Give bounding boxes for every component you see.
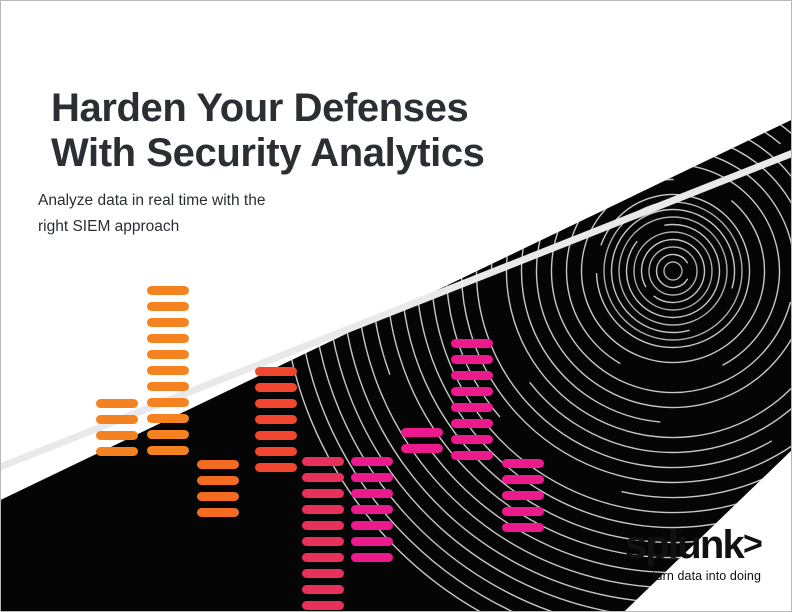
bar-segment bbox=[401, 428, 443, 437]
splunk-wordmark: splunk> bbox=[625, 525, 761, 567]
bar-segment bbox=[451, 451, 493, 460]
bar-segment bbox=[351, 489, 393, 498]
bar-segment bbox=[147, 430, 189, 439]
headline-line-1: Harden Your Defenses bbox=[51, 86, 671, 131]
page-subtitle: Analyze data in real time with the right… bbox=[38, 188, 438, 240]
bar-segment bbox=[502, 459, 544, 468]
headline-line-2: With Security Analytics bbox=[51, 131, 671, 176]
bar-segment bbox=[147, 366, 189, 375]
bar-segment bbox=[197, 492, 239, 501]
bar-segment bbox=[147, 318, 189, 327]
bar-segment bbox=[302, 553, 344, 562]
bar-segment bbox=[302, 601, 344, 610]
bar-segment bbox=[197, 460, 239, 469]
bar-segment bbox=[502, 523, 544, 532]
bar-segment bbox=[147, 302, 189, 311]
bar-segment bbox=[255, 463, 297, 472]
bar-segment bbox=[451, 403, 493, 412]
bar-segment bbox=[351, 505, 393, 514]
bar-segment bbox=[302, 585, 344, 594]
bar-segment bbox=[351, 521, 393, 530]
page-title: Harden Your Defenses With Security Analy… bbox=[51, 86, 671, 176]
bar-segment bbox=[302, 473, 344, 482]
bar-segment bbox=[351, 553, 393, 562]
bar-segment bbox=[197, 508, 239, 517]
splunk-wordmark-text: splunk bbox=[625, 523, 743, 567]
bar-segment bbox=[451, 371, 493, 380]
subhead-line-1: Analyze data in real time with the bbox=[38, 188, 438, 214]
bar-segment bbox=[96, 447, 138, 456]
bar-segment bbox=[197, 476, 239, 485]
bar-segment bbox=[255, 383, 297, 392]
bar-segment bbox=[502, 491, 544, 500]
bar-segment bbox=[147, 398, 189, 407]
bar-segment bbox=[351, 537, 393, 546]
bar-segment bbox=[147, 334, 189, 343]
bar-segment bbox=[451, 435, 493, 444]
bar-segment bbox=[96, 415, 138, 424]
bar-segment bbox=[502, 475, 544, 484]
splunk-tagline: turn data into doing bbox=[625, 569, 761, 583]
bar-segment bbox=[96, 431, 138, 440]
bar-segment bbox=[255, 367, 297, 376]
bar-segment bbox=[451, 355, 493, 364]
bar-segment bbox=[302, 489, 344, 498]
bar-segment bbox=[351, 473, 393, 482]
bar-segment bbox=[351, 457, 393, 466]
bar-segment bbox=[147, 414, 189, 423]
bar-segment bbox=[451, 339, 493, 348]
bar-segment bbox=[401, 444, 443, 453]
bar-segment bbox=[147, 350, 189, 359]
bar-segment bbox=[302, 521, 344, 530]
bar-segment bbox=[302, 505, 344, 514]
bar-segment bbox=[147, 382, 189, 391]
bar-segment bbox=[502, 507, 544, 516]
bar-segment bbox=[302, 537, 344, 546]
subhead-line-2: right SIEM approach bbox=[38, 214, 438, 240]
bar-segment bbox=[302, 569, 344, 578]
bar-segment bbox=[255, 415, 297, 424]
splunk-logo: splunk> turn data into doing bbox=[625, 525, 761, 583]
bar-segment bbox=[302, 457, 344, 466]
chevron-right-icon: > bbox=[743, 524, 761, 564]
bar-segment bbox=[255, 447, 297, 456]
bar-segment bbox=[451, 387, 493, 396]
bar-segment bbox=[96, 399, 138, 408]
bar-segment bbox=[147, 446, 189, 455]
bar-segment bbox=[451, 419, 493, 428]
bar-segment bbox=[147, 286, 189, 295]
bar-segment bbox=[255, 399, 297, 408]
ebook-cover: Harden Your Defenses With Security Analy… bbox=[0, 0, 792, 612]
bar-segment bbox=[255, 431, 297, 440]
